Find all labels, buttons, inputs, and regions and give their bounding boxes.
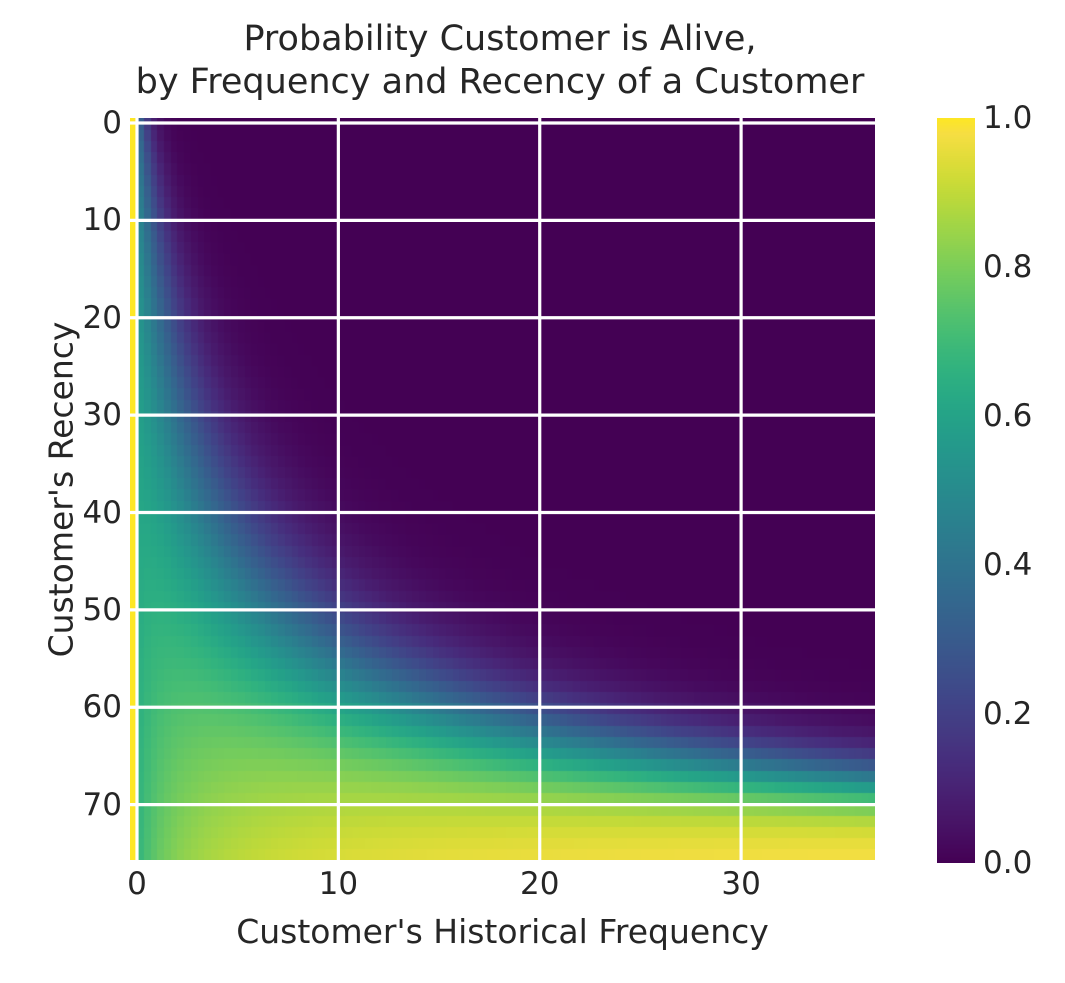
- colorbar-tick-0-0: 0.0: [983, 845, 1065, 881]
- x-tick-20: 20: [480, 866, 600, 902]
- x-axis-label: Customer's Historical Frequency: [130, 912, 875, 951]
- gridlines: [130, 118, 875, 860]
- colorbar-tick-0-8: 0.8: [983, 249, 1065, 285]
- heatmap-plot-area[interactable]: [130, 118, 875, 860]
- chart-title: Probability Customer is Alive, by Freque…: [0, 18, 1000, 104]
- colorbar-tick-0-6: 0.6: [983, 398, 1065, 434]
- x-tick-0: 0: [77, 866, 197, 902]
- colorbar-tick-0-4: 0.4: [983, 547, 1065, 583]
- colorbar-tick-1-0: 1.0: [983, 100, 1065, 136]
- figure-canvas: Probability Customer is Alive, by Freque…: [0, 0, 1065, 983]
- x-tick-10: 10: [278, 866, 398, 902]
- x-tick-30: 30: [681, 866, 801, 902]
- colorbar-gradient: [937, 118, 975, 863]
- colorbar[interactable]: [937, 118, 975, 863]
- y-axis-label: Customer's Recency: [42, 119, 81, 861]
- colorbar-tick-0-2: 0.2: [983, 696, 1065, 732]
